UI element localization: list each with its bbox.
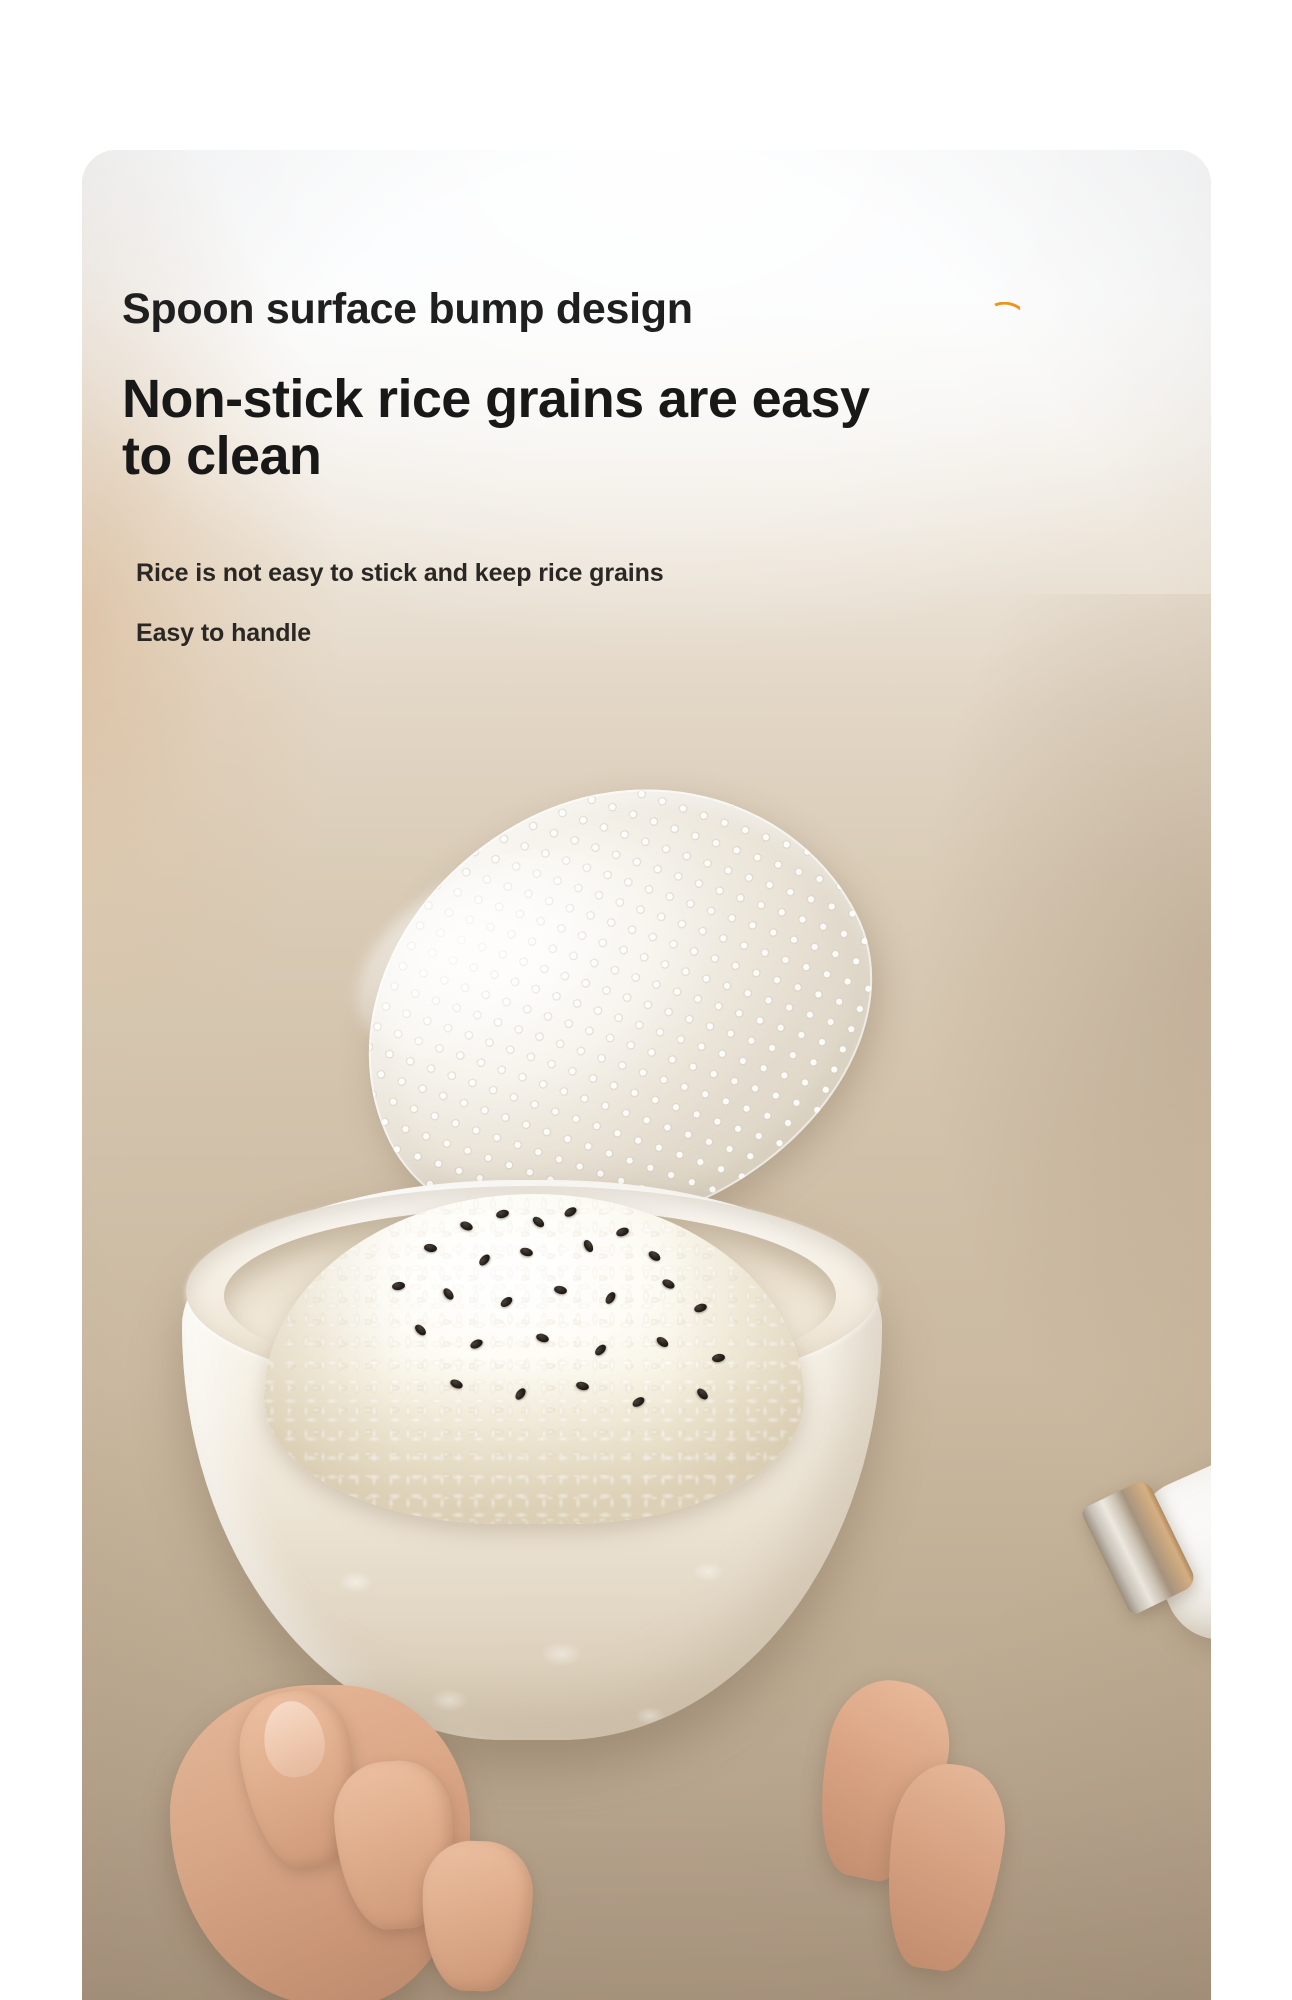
benefit-item-2: Easy to handle — [136, 621, 982, 646]
hand-holding-bowl — [170, 1565, 510, 1995]
benefit-list: Rice is not easy to stick and keep rice … — [122, 561, 982, 646]
headline-secondary: Non-stick rice grains are easy to clean — [122, 371, 882, 485]
steamed-rice-mound — [264, 1194, 804, 1524]
product-photo-card: Spoon surface bump design Non-stick rice… — [82, 150, 1211, 2000]
headline-primary: Spoon surface bump design — [122, 288, 693, 331]
benefit-item-1: Rice is not easy to stick and keep rice … — [136, 561, 982, 586]
hand-fingers-right — [782, 1680, 1002, 2000]
marketing-copy-block: Spoon surface bump design Non-stick rice… — [122, 288, 982, 646]
